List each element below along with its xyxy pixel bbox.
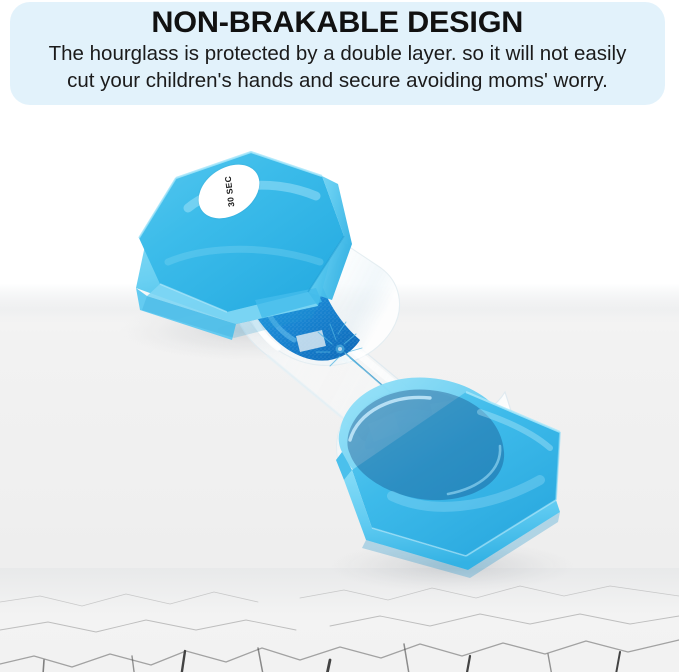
- banner-description-line-1: The hourglass is protected by a double l…: [49, 40, 627, 67]
- ground-horizon-fade: [0, 284, 679, 310]
- feature-banner: NON-BRAKABLE DESIGN The hourglass is pro…: [10, 2, 665, 105]
- product-feature-image: 30 SEC NON-BRAKABLE DESIGN The hourglass…: [0, 0, 679, 672]
- background-cracked-ground: [0, 284, 679, 672]
- crack-texture-icon: [0, 568, 679, 672]
- banner-title: NON-BRAKABLE DESIGN: [152, 7, 524, 39]
- banner-description-line-2: cut your children's hands and secure avo…: [67, 67, 608, 94]
